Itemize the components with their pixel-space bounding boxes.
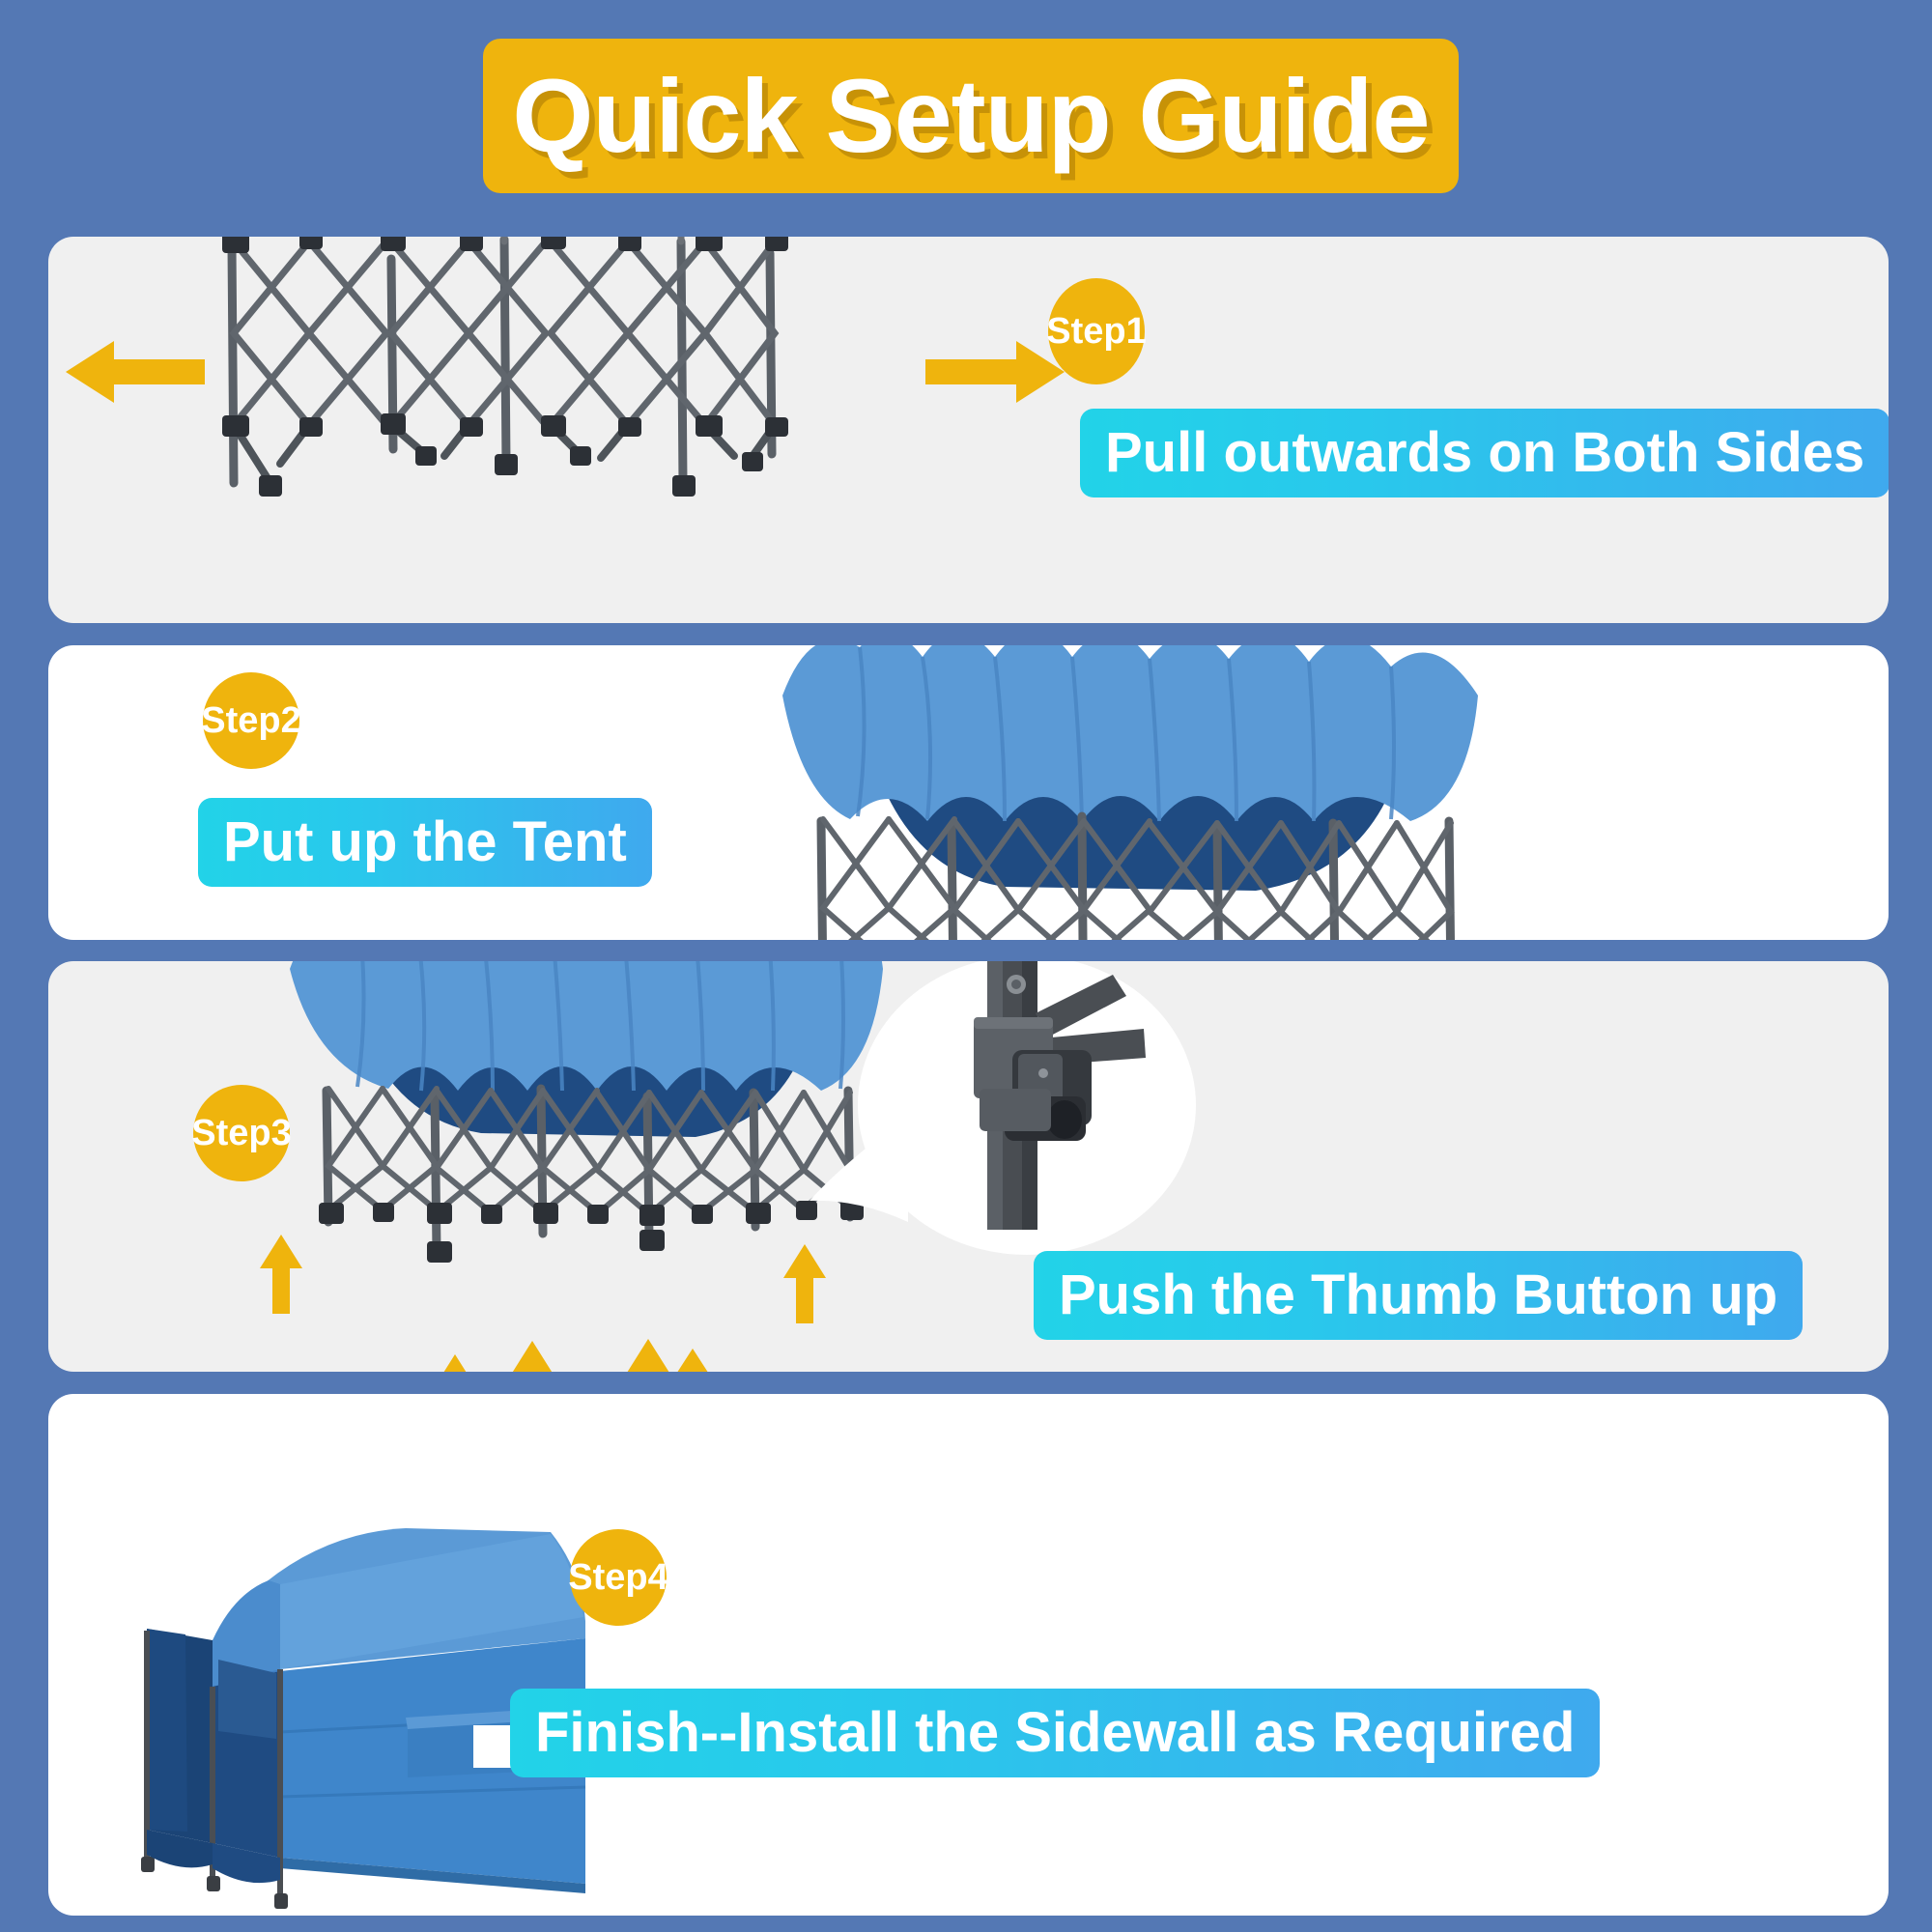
- step-caption-1-label: Pull outwards on Both Sides: [1105, 425, 1864, 481]
- step-badge-2: Step2: [203, 672, 299, 769]
- step-caption-4-label: Finish--Install the Sidewall as Required: [535, 1705, 1575, 1761]
- collapsed-tent-frame-illustration: [126, 237, 840, 623]
- callout-tail-icon: [804, 1106, 910, 1251]
- step-badge-4: Step4: [570, 1529, 667, 1626]
- page-title: Quick Setup Guide: [512, 64, 1429, 168]
- step-panel-2: Step2 Put up the Tent: [48, 645, 1889, 940]
- step-badge-1-label: Step1: [1046, 313, 1146, 350]
- step-badge-1: Step1: [1048, 278, 1145, 384]
- arrow-up-icon: [626, 1336, 670, 1372]
- tent-legs-extending-illustration: [241, 961, 898, 1280]
- step-panel-1: Step1 Pull outwards on Both Sides: [48, 237, 1889, 623]
- step-badge-4-label: Step4: [568, 1559, 668, 1596]
- step-caption-2: Put up the Tent: [198, 798, 652, 887]
- arrow-up-icon: [510, 1338, 554, 1372]
- step-caption-2-label: Put up the Tent: [223, 814, 627, 870]
- tent-with-draped-canopy-illustration: [715, 645, 1517, 940]
- step-badge-2-label: Step2: [201, 702, 300, 739]
- step-caption-3-label: Push the Thumb Button up: [1059, 1267, 1777, 1323]
- setup-guide-page: Quick Setup Guide: [0, 0, 1932, 1932]
- step-caption-3: Push the Thumb Button up: [1034, 1251, 1803, 1340]
- arrow-up-icon: [433, 1351, 477, 1372]
- step-panel-4: Step4 Finish--Install the Sidewall as Re…: [48, 1394, 1889, 1916]
- arrow-up-icon: [672, 1346, 713, 1372]
- arrow-up-icon: [259, 1232, 303, 1317]
- step-caption-1: Pull outwards on Both Sides: [1080, 409, 1889, 497]
- step-panel-3: Step3: [48, 961, 1889, 1372]
- arrow-up-icon: [782, 1241, 827, 1326]
- thumb-button-closeup-illustration: [898, 961, 1169, 1243]
- step-caption-4: Finish--Install the Sidewall as Required: [510, 1689, 1600, 1777]
- arrow-left-icon: [58, 333, 213, 411]
- page-title-banner: Quick Setup Guide: [483, 39, 1459, 193]
